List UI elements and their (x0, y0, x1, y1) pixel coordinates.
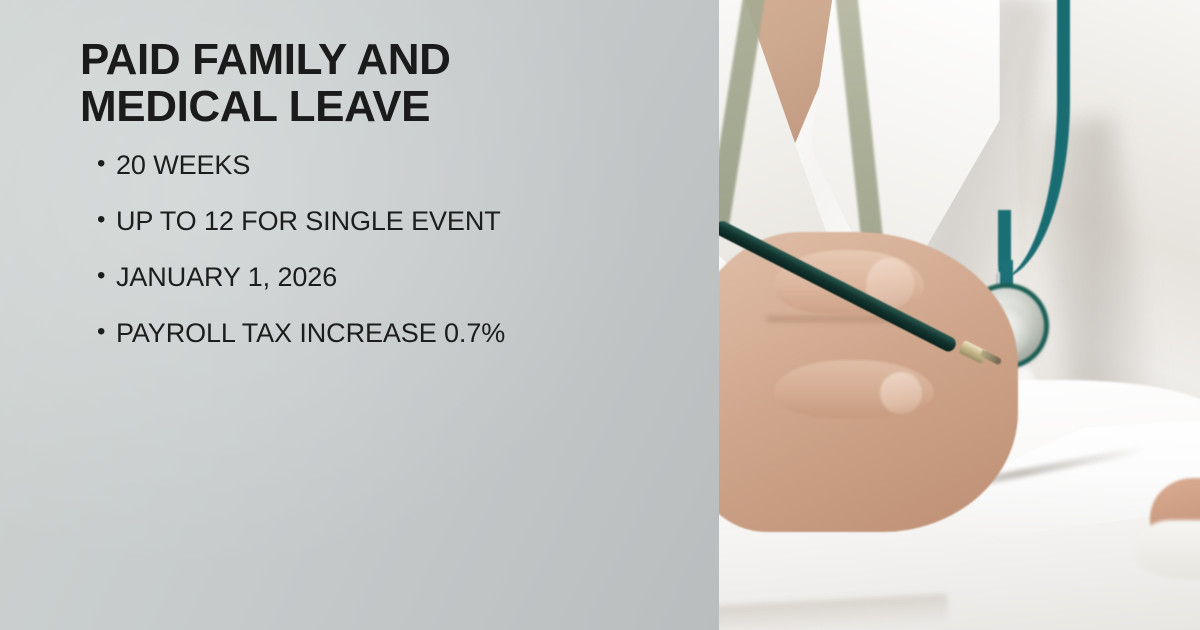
list-item: 20 WEEKS (97, 150, 697, 180)
page-title: PAID FAMILY AND MEDICAL LEAVE (80, 36, 680, 130)
doctor-photo (718, 0, 1200, 630)
slide-root: PAID FAMILY AND MEDICAL LEAVE 20 WEEKS U… (0, 0, 1200, 630)
list-item: JANUARY 1, 2026 (97, 262, 697, 292)
list-item: UP TO 12 FOR SINGLE EVENT (97, 206, 697, 236)
benefit-list: 20 WEEKS UP TO 12 FOR SINGLE EVENT JANUA… (97, 150, 697, 374)
list-item: PAYROLL TAX INCREASE 0.7% (97, 318, 697, 348)
fingernail-lower (880, 372, 922, 414)
second-hand-cuff (1136, 520, 1200, 578)
text-panel: PAID FAMILY AND MEDICAL LEAVE 20 WEEKS U… (0, 0, 719, 630)
